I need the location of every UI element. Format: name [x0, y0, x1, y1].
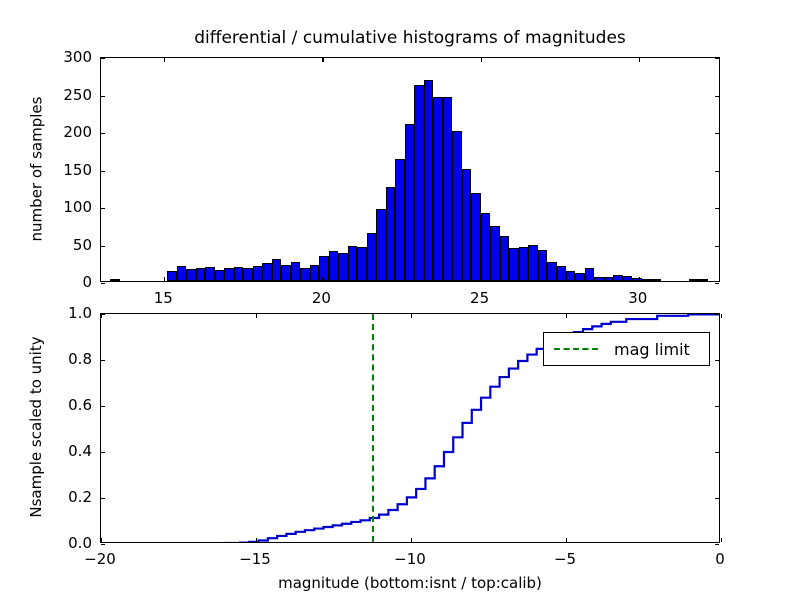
bottom-axes-y-tick: [101, 452, 105, 453]
top-axes-y-tick: [715, 96, 719, 97]
figure-title: differential / cumulative histograms of …: [100, 28, 720, 48]
histogram-bar: [243, 268, 252, 282]
histogram-bar: [310, 265, 319, 282]
bottom-axes-x-tick-label: −20: [84, 550, 116, 568]
histogram-bar: [538, 250, 547, 282]
top-axes-x-tick-label: 20: [312, 289, 331, 307]
bottom-axes-x-tick: [566, 538, 567, 542]
histogram-bar: [253, 266, 262, 281]
bottom-axes-x-tick-label: −15: [239, 550, 271, 568]
top-axes-x-tick: [481, 277, 482, 281]
bottom-axes-y-tick: [715, 406, 719, 407]
bottom-axes-x-tick-label: 0: [715, 550, 725, 568]
bottom-axes-y-tick: [101, 360, 105, 361]
top-axis-y-title: number of samples: [27, 56, 45, 281]
bottom-axes-y-tick-label: 0.6: [0, 396, 92, 414]
histogram-bar: [689, 279, 698, 281]
figure-canvas: differential / cumulative histograms of …: [0, 0, 800, 600]
bottom-axes-x-tick-label: −10: [394, 550, 426, 568]
histogram-bar: [481, 213, 490, 281]
histogram-bar: [196, 268, 205, 281]
histogram-bar: [604, 277, 613, 282]
mag-limit-vline: [372, 314, 374, 542]
legend-label-mag-limit: mag limit: [614, 340, 690, 359]
histogram-bar: [215, 270, 224, 281]
top-axes-y-tick: [101, 208, 105, 209]
top-axes-x-tick: [164, 58, 165, 62]
top-axes-x-tick-label: 25: [470, 289, 489, 307]
histogram-bar: [281, 265, 290, 281]
legend[interactable]: mag limit: [543, 332, 710, 366]
top-axes-y-tick: [101, 171, 105, 172]
histogram-bar: [405, 124, 414, 282]
histogram-bar: [167, 271, 176, 281]
histogram-bar: [348, 246, 357, 281]
bottom-axes-y-tick: [101, 314, 105, 315]
bottom-axes-y-tick: [715, 498, 719, 499]
histogram-bar: [509, 248, 518, 281]
histogram-bar: [386, 187, 395, 282]
top-axes-y-tick-label: 300: [0, 48, 92, 66]
histogram-bar: [110, 279, 119, 281]
histogram-bar: [177, 266, 186, 281]
histogram-bar: [224, 268, 233, 281]
bottom-axes-y-tick-label: 1.0: [0, 304, 92, 322]
histogram-bar: [234, 267, 243, 281]
histogram-bar: [471, 193, 480, 282]
top-axes-y-tick-label: 0: [0, 273, 92, 291]
top-axes-y-tick: [715, 208, 719, 209]
histogram-bar: [357, 247, 366, 281]
bottom-axis-y-title: Nsample scaled to unity: [27, 312, 45, 542]
top-axes-y-tick: [715, 171, 719, 172]
bottom-axes-x-tick: [411, 314, 412, 318]
histogram-bar: [262, 263, 271, 281]
histogram-bar: [623, 276, 632, 281]
histogram-bar: [575, 273, 584, 281]
histogram-bar: [594, 277, 603, 281]
histogram-bar: [500, 236, 509, 281]
top-axes-y-tick: [101, 96, 105, 97]
top-axes-x-tick: [164, 277, 165, 281]
histogram-bar: [452, 131, 461, 281]
top-axes-y-tick-label: 150: [0, 161, 92, 179]
bottom-axes-y-tick: [101, 544, 105, 545]
histogram-bar: [585, 268, 594, 282]
top-axes-y-tick-label: 200: [0, 123, 92, 141]
histogram-bar: [490, 226, 499, 282]
top-axes-y-tick-label: 100: [0, 198, 92, 216]
top-axes-x-tick: [639, 277, 640, 281]
bottom-axes-y-tick-label: 0.0: [0, 534, 92, 552]
bottom-axes-y-tick: [101, 498, 105, 499]
bottom-axes-y-tick-label: 0.2: [0, 488, 92, 506]
bottom-axes-y-tick: [101, 406, 105, 407]
bottom-axes-x-tick: [721, 314, 722, 318]
histogram-bar: [528, 245, 537, 281]
bottom-axes-y-tick: [715, 544, 719, 545]
top-plot-area: [101, 58, 719, 281]
bottom-axes-x-tick: [411, 538, 412, 542]
top-axes-y-tick: [715, 58, 719, 59]
top-axes-y-tick: [715, 133, 719, 134]
histogram-bar: [319, 256, 328, 281]
top-axes-x-tick-label: 30: [628, 289, 647, 307]
top-axes-histogram: [100, 57, 720, 282]
bottom-axes-x-tick: [256, 538, 257, 542]
top-axes-y-tick-label: 250: [0, 86, 92, 104]
bottom-axis-x-title: magnitude (bottom:isnt / top:calib): [100, 574, 720, 592]
bottom-axes-x-tick: [256, 314, 257, 318]
histogram-bar: [424, 80, 433, 281]
histogram-bar: [367, 233, 376, 281]
top-axes-x-tick: [322, 58, 323, 62]
histogram-bar: [519, 247, 528, 282]
histogram-bar: [205, 267, 214, 281]
histogram-bar: [462, 169, 471, 282]
top-axes-y-tick: [101, 283, 105, 284]
bottom-axes-x-tick: [721, 538, 722, 542]
histogram-bar: [272, 259, 281, 282]
bottom-axes-y-tick: [715, 452, 719, 453]
histogram-bar: [651, 279, 660, 281]
histogram-bar: [376, 209, 385, 281]
histogram-bar: [395, 159, 404, 281]
top-axes-y-tick-label: 50: [0, 236, 92, 254]
bottom-axes-x-tick-label: −5: [554, 550, 576, 568]
histogram-bar: [557, 266, 566, 281]
histogram-bar: [338, 253, 347, 282]
top-axes-x-tick: [481, 58, 482, 62]
histogram-bar: [414, 85, 423, 282]
top-axes-x-tick-label: 15: [154, 289, 173, 307]
bottom-axes-x-tick: [101, 538, 102, 542]
top-axes-y-tick: [101, 58, 105, 59]
histogram-bar: [632, 278, 641, 281]
histogram-bar: [566, 271, 575, 282]
histogram-bar: [547, 262, 556, 282]
histogram-bar: [613, 275, 622, 281]
histogram-bar: [433, 97, 442, 281]
histogram-bar: [300, 268, 309, 282]
histogram-bar: [329, 251, 338, 281]
top-axes-y-tick: [101, 246, 105, 247]
top-axes-y-tick: [715, 246, 719, 247]
histogram-bar: [699, 279, 708, 281]
bottom-axes-x-tick: [566, 314, 567, 318]
histogram-bar: [291, 262, 300, 282]
histogram-bar: [642, 279, 651, 281]
histogram-bar: [186, 269, 195, 281]
top-axes-x-tick: [639, 58, 640, 62]
bottom-axes-y-tick: [715, 314, 719, 315]
top-axes-x-tick: [322, 277, 323, 281]
top-axes-y-tick: [715, 283, 719, 284]
bottom-axes-y-tick-label: 0.4: [0, 442, 92, 460]
mag-limit-legend-swatch-icon: [554, 348, 598, 350]
top-axes-y-tick: [101, 133, 105, 134]
bottom-axes-y-tick-label: 0.8: [0, 350, 92, 368]
histogram-bar: [443, 97, 452, 281]
bottom-axes-y-tick: [715, 360, 719, 361]
